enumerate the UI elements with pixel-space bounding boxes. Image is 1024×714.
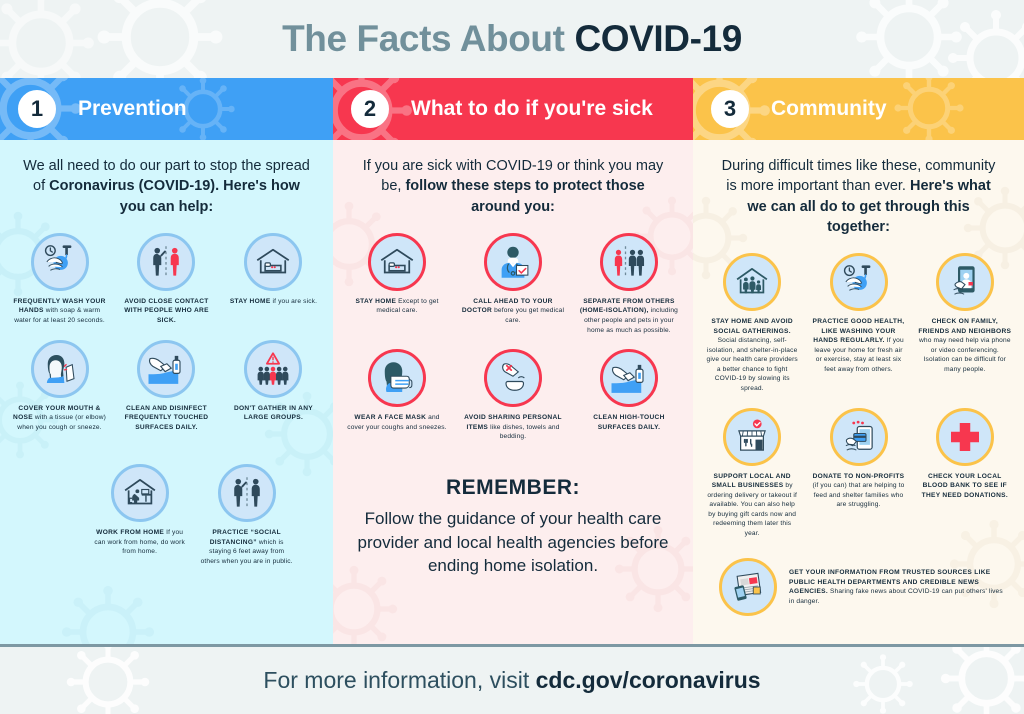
video-call-icon — [936, 253, 994, 311]
stay-home-icon — [244, 233, 302, 291]
footer-bar: For more information, visit cdc.gov/coro… — [0, 644, 1024, 714]
family-home-icon — [723, 253, 781, 311]
tip-caption: CLEAN HIGH-TOUCH SURFACES DAILY. — [574, 413, 684, 432]
prevention-icon-grid: FREQUENTLY WASH YOUR HANDS with soap & w… — [0, 217, 333, 440]
tip-title: WORK FROM HOME — [96, 529, 164, 536]
donate-icon — [830, 408, 888, 466]
tip-item[interactable]: AVOID SHARING PERSONAL ITEMS like dishes… — [455, 343, 571, 450]
tip-title: CHECK ON FAMILY, FRIENDS AND NEIGHBORS — [918, 318, 1011, 335]
virus-decoration-icon — [95, 0, 225, 78]
column-intro-prevention: We all need to do our part to stop the s… — [0, 140, 333, 217]
content-columns: We all need to do our part to stop the s… — [0, 140, 1024, 644]
section-number-badge: 3 — [711, 90, 749, 128]
tip-caption: CHECK YOUR LOCAL BLOOD BANK TO SEE IF TH… — [915, 472, 1015, 501]
work-from-home-icon — [111, 464, 169, 522]
tip-title: WEAR A FACE MASK — [354, 414, 426, 421]
tip-title: CLEAN HIGH-TOUCH SURFACES DAILY. — [593, 414, 664, 431]
tip-caption: WEAR A FACE MASK and cover your coughs a… — [342, 413, 452, 432]
virus-decoration-icon — [854, 0, 964, 78]
community-icon-grid: STAY HOME AND AVOID SOCIAL GATHERINGS. S… — [693, 237, 1024, 546]
tip-caption: CLEAN AND DISINFECT FREQUENTLY TOUCHED S… — [116, 404, 217, 433]
separate-from-others-icon — [600, 233, 658, 291]
blood-bank-icon — [936, 408, 994, 466]
tip-item[interactable]: FREQUENTLY WASH YOUR HANDS with soap & w… — [6, 227, 113, 334]
tip-title: CHECK YOUR LOCAL BLOOD BANK TO SEE IF TH… — [922, 473, 1008, 499]
tip-caption: STAY HOME if you are sick. — [223, 297, 324, 307]
tip-caption: AVOID SHARING PERSONAL ITEMS like dishes… — [458, 413, 568, 442]
tip-caption: PRACTICE “SOCIAL DISTANCING” which is st… — [196, 528, 297, 566]
remember-body: Follow the guidance of your health care … — [357, 507, 669, 578]
virus-decoration-icon — [852, 653, 914, 714]
tip-item[interactable]: WEAR A FACE MASK and cover your coughs a… — [339, 343, 455, 450]
virus-decoration-icon — [893, 78, 965, 140]
virus-decoration-icon — [939, 644, 1024, 714]
tip-body: Social distancing, self-isolation, and s… — [707, 337, 798, 392]
tip-item[interactable]: CHECK ON FAMILY, FRIENDS AND NEIGHBORS w… — [912, 247, 1018, 401]
tip-caption: SEPARATE FROM OTHERS (HOME-ISOLATION), i… — [574, 297, 684, 335]
section-number-badge: 1 — [18, 90, 56, 128]
tip-title: CLEAN AND DISINFECT FREQUENTLY TOUCHED S… — [125, 405, 209, 431]
tip-title: DON'T GATHER IN ANY LARGE GROUPS. — [234, 405, 313, 422]
tip-item[interactable]: STAY HOME Except to get medical care. — [339, 227, 455, 343]
tip-item[interactable]: WORK FROM HOME If you can work from home… — [86, 458, 193, 574]
tip-item[interactable]: CALL AHEAD TO YOUR DOCTOR before you get… — [455, 227, 571, 343]
tip-item[interactable]: CLEAN HIGH-TOUCH SURFACES DAILY. — [571, 343, 687, 450]
column-intro-community: During difficult times like these, commu… — [693, 140, 1024, 237]
clean-surfaces-icon — [600, 349, 658, 407]
no-gathering-icon — [244, 340, 302, 398]
tip-caption: CALL AHEAD TO YOUR DOCTOR before you get… — [458, 297, 568, 326]
intro-bold: follow these steps to protect those arou… — [405, 178, 644, 214]
remember-title: REMEMBER: — [357, 476, 669, 500]
tip-caption: AVOID CLOSE CONTACT WITH PEOPLE WHO ARE … — [116, 297, 217, 326]
tip-title: SUPPORT LOCAL AND SMALL BUSINESSES — [712, 473, 791, 490]
section-header-community[interactable]: 3 Community — [693, 78, 1024, 140]
disinfect-surfaces-icon — [137, 340, 195, 398]
news-sources-icon — [719, 558, 777, 616]
tip-caption: COVER YOUR MOUTH & NOSE with a tissue (o… — [9, 404, 110, 433]
tip-body: (if you can) that are helping to feed an… — [812, 482, 904, 508]
tip-item[interactable]: AVOID CLOSE CONTACT WITH PEOPLE WHO ARE … — [113, 227, 220, 334]
tip-body: before you get medical care. — [494, 307, 564, 324]
tip-item[interactable]: CLEAN AND DISINFECT FREQUENTLY TOUCHED S… — [113, 334, 220, 441]
tip-title: STAY HOME — [355, 298, 396, 305]
tip-item[interactable]: STAY HOME AND AVOID SOCIAL GATHERINGS. S… — [699, 247, 805, 401]
tip-title: DONATE TO NON-PROFITS — [813, 473, 905, 480]
tip-item[interactable]: COVER YOUR MOUTH & NOSE with a tissue (o… — [6, 334, 113, 441]
small-business-icon — [723, 408, 781, 466]
tip-title: AVOID CLOSE CONTACT WITH PEOPLE WHO ARE … — [124, 298, 209, 324]
tip-item[interactable]: PRACTICE GOOD HEALTH, LIKE WASHING YOUR … — [805, 247, 911, 401]
section-heading-label: Community — [771, 97, 887, 121]
column-community: During difficult times like these, commu… — [693, 140, 1024, 644]
tip-caption: FREQUENTLY WASH YOUR HANDS with soap & w… — [9, 297, 110, 326]
tip-body: by ordering delivery or takeout if avail… — [707, 482, 797, 537]
tip-item[interactable]: DONATE TO NON-PROFITS (if you can) that … — [805, 402, 911, 547]
footer-text-plain: For more information, visit — [263, 667, 535, 693]
tip-title: STAY HOME AND AVOID SOCIAL GATHERINGS. — [711, 318, 793, 335]
tip-body: if you are sick. — [273, 298, 318, 305]
tip-item[interactable]: CHECK YOUR LOCAL BLOOD BANK TO SEE IF TH… — [912, 402, 1018, 547]
section-number-badge: 2 — [351, 90, 389, 128]
section-heading-label: Prevention — [78, 97, 187, 121]
section-heading-label: What to do if you're sick — [411, 97, 653, 121]
tip-caption: CHECK ON FAMILY, FRIENDS AND NEIGHBORS w… — [915, 317, 1015, 374]
page-title-bold: COVID-19 — [574, 18, 741, 59]
tip-caption: STAY HOME Except to get medical care. — [342, 297, 452, 316]
wash-hands-icon — [830, 253, 888, 311]
virus-decoration-icon — [65, 644, 151, 714]
section-header-prevention[interactable]: 1 Prevention — [0, 78, 333, 140]
column-prevention: We all need to do our part to stop the s… — [0, 140, 333, 644]
tip-body: like dishes, towels and bedding. — [490, 424, 559, 441]
tip-caption: GET YOUR INFORMATION FROM TRUSTED SOURCE… — [789, 568, 1004, 606]
tip-caption: WORK FROM HOME If you can work from home… — [89, 528, 190, 557]
call-doctor-icon — [484, 233, 542, 291]
sick-icon-grid: STAY HOME Except to get medical care. CA… — [333, 217, 693, 450]
page-title: The Facts About COVID-19 — [282, 18, 742, 60]
tip-caption: SUPPORT LOCAL AND SMALL BUSINESSES by or… — [702, 472, 802, 539]
column-if-sick: If you are sick with COVID-19 or think y… — [333, 140, 693, 644]
no-sharing-items-icon — [484, 349, 542, 407]
avoid-contact-icon — [137, 233, 195, 291]
wash-hands-icon — [31, 233, 89, 291]
tip-caption: STAY HOME AND AVOID SOCIAL GATHERINGS. S… — [702, 317, 802, 393]
tip-item[interactable]: DON'T GATHER IN ANY LARGE GROUPS. — [220, 334, 327, 441]
face-mask-icon — [368, 349, 426, 407]
virus-decoration-icon — [60, 584, 156, 644]
tip-item[interactable]: STAY HOME if you are sick. — [220, 227, 327, 334]
trusted-sources-item[interactable]: GET YOUR INFORMATION FROM TRUSTED SOURCE… — [693, 546, 1024, 616]
cover-cough-icon — [31, 340, 89, 398]
tip-item[interactable]: SUPPORT LOCAL AND SMALL BUSINESSES by or… — [699, 402, 805, 547]
infographic-page: The Facts About COVID-19 1 Prevention 2 … — [0, 0, 1024, 714]
tip-caption: PRACTICE GOOD HEALTH, LIKE WASHING YOUR … — [808, 317, 908, 374]
tip-body: who may need help via phone or video con… — [919, 337, 1011, 373]
remember-block: REMEMBER: Follow the guidance of your he… — [333, 450, 693, 578]
tip-caption: DONATE TO NON-PROFITS (if you can) that … — [808, 472, 908, 510]
virus-decoration-icon — [946, 8, 1024, 78]
column-intro-sick: If you are sick with COVID-19 or think y… — [333, 140, 693, 217]
stay-home-icon — [368, 233, 426, 291]
footer-text: For more information, visit cdc.gov/coro… — [263, 667, 760, 694]
footer-link-cdc[interactable]: cdc.gov/coronavirus — [536, 667, 761, 693]
title-bar: The Facts About COVID-19 — [0, 0, 1024, 78]
section-header-sick[interactable]: 2 What to do if you're sick — [333, 78, 693, 140]
tip-item[interactable]: PRACTICE “SOCIAL DISTANCING” which is st… — [193, 458, 300, 574]
intro-bold: Coronavirus (COVID-19). Here's how you c… — [49, 178, 300, 214]
prevention-icon-grid-row3: WORK FROM HOME If you can work from home… — [0, 440, 333, 574]
section-header-strip: 1 Prevention 2 What to do if you're sick… — [0, 78, 1024, 140]
social-distancing-icon — [218, 464, 276, 522]
virus-decoration-icon — [0, 0, 96, 78]
tip-caption: DON'T GATHER IN ANY LARGE GROUPS. — [223, 404, 324, 423]
tip-title: STAY HOME — [230, 298, 271, 305]
page-title-plain: The Facts About — [282, 18, 574, 59]
tip-item[interactable]: SEPARATE FROM OTHERS (HOME-ISOLATION), i… — [571, 227, 687, 343]
